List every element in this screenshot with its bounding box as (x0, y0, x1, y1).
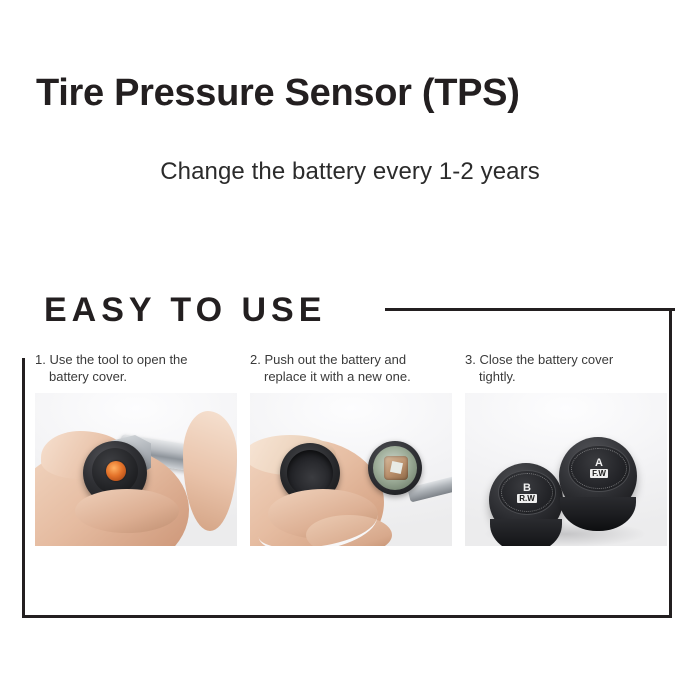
sensor-cap-b: B R.W (489, 463, 563, 537)
step-3-caption-line2: tightly. (465, 368, 667, 385)
sensor-body-shape (368, 441, 422, 495)
page-title: Tire Pressure Sensor (TPS) (36, 74, 676, 114)
frame-top-rule (385, 308, 675, 311)
page-subtitle: Change the battery every 1-2 years (0, 158, 700, 186)
finger-shape (75, 489, 179, 533)
step-3: 3. Close the battery cover tightly. B R.… (465, 348, 667, 546)
step-1-caption-line1: Use the tool to open the (49, 352, 187, 367)
sensor-face-shape (92, 448, 138, 494)
sensor-cap-a: A F.W (559, 437, 637, 515)
steps-row: 1. Use the tool to open the battery cove… (35, 348, 667, 546)
frame-left-border (22, 358, 25, 618)
copper-contact-shape (106, 461, 126, 481)
step-3-number: 3. (465, 352, 476, 367)
sensor-cap-skirt (490, 519, 562, 546)
step-2-caption-line2: replace it with a new one. (250, 368, 452, 385)
sensor-cap-b-face: B R.W (498, 470, 556, 515)
step-2: 2. Push out the battery and replace it w… (250, 348, 452, 546)
sensor-cap-ring-text (501, 473, 553, 512)
step-2-caption: 2. Push out the battery and replace it w… (250, 348, 452, 393)
step-2-number: 2. (250, 352, 261, 367)
frame-right-border (669, 308, 672, 618)
easy-to-use-section: EASY TO USE 1. Use the tool to open the … (22, 300, 672, 618)
step-3-caption-line1: Close the battery cover (479, 352, 613, 367)
step-3-photo: B R.W A F.W (465, 393, 667, 546)
sensor-cap-a-face: A F.W (568, 445, 629, 492)
sensor-cap-ring-text (571, 448, 626, 489)
battery-shape (384, 456, 408, 480)
step-2-photo (250, 393, 452, 546)
step-1: 1. Use the tool to open the battery cove… (35, 348, 237, 546)
step-1-photo (35, 393, 237, 546)
step-2-caption-line1: Push out the battery and (264, 352, 406, 367)
sensor-ring-shape (373, 446, 417, 490)
section-heading: EASY TO USE (44, 288, 340, 332)
step-1-number: 1. (35, 352, 46, 367)
step-1-caption-line2: battery cover. (35, 368, 237, 385)
frame-bottom-border (22, 615, 672, 618)
step-3-caption: 3. Close the battery cover tightly. (465, 348, 667, 393)
step-1-caption: 1. Use the tool to open the battery cove… (35, 348, 237, 393)
battery-contact-tab-shape (390, 461, 403, 474)
